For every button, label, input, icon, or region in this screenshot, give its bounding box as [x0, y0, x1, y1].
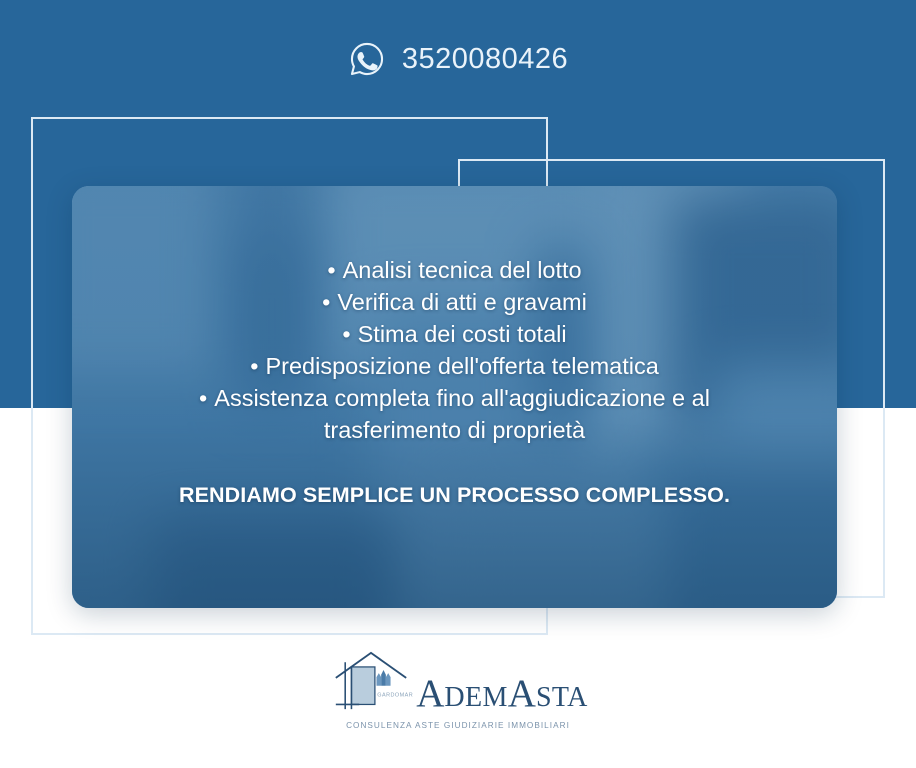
header-contact-bar: 3520080426 [0, 36, 916, 82]
list-item-label: Analisi tecnica del lotto [343, 257, 582, 283]
list-item-label: Predisposizione dell'offerta telematica [265, 353, 658, 379]
bullet-marker: • [199, 382, 207, 414]
list-item: trasferimento di proprietà [199, 414, 710, 446]
list-item-label: Verifica di atti e gravami [337, 289, 586, 315]
wordmark-a2: A [508, 672, 536, 715]
brand-logo: GARDOMAR ADEMASTA CONSULENZA ASTE GIUDIZ… [0, 648, 916, 730]
house-book-icon: GARDOMAR [328, 648, 414, 714]
content-card: •Analisi tecnica del lotto •Verifica di … [72, 186, 837, 608]
whatsapp-icon[interactable] [348, 40, 386, 78]
bullet-marker: • [342, 318, 350, 350]
list-item-label: trasferimento di proprietà [324, 417, 585, 443]
logo-lockup: GARDOMAR ADEMASTA [328, 648, 588, 714]
tagline: RENDIAMO SEMPLICE UN PROCESSO COMPLESSO. [179, 483, 730, 508]
list-item: •Analisi tecnica del lotto [199, 254, 710, 286]
bullet-marker: • [327, 254, 335, 286]
svg-text:GARDOMAR: GARDOMAR [377, 693, 413, 699]
card-content: •Analisi tecnica del lotto •Verifica di … [72, 186, 837, 608]
logo-wordmark: ADEMASTA [416, 675, 588, 712]
list-item: •Stima dei costi totali [199, 318, 710, 350]
list-item: •Verifica di atti e gravami [199, 286, 710, 318]
phone-number[interactable]: 3520080426 [402, 45, 568, 74]
wordmark-sta: STA [536, 682, 588, 713]
list-item-label: Assistenza completa fino all'aggiudicazi… [214, 385, 710, 411]
list-item: •Predisposizione dell'offerta telematica [199, 350, 710, 382]
bullet-marker: • [322, 286, 330, 318]
wordmark-dem: DEM [444, 682, 507, 713]
wordmark-a1: A [416, 672, 444, 715]
list-item: •Assistenza completa fino all'aggiudicaz… [199, 382, 710, 414]
bullet-marker: • [250, 350, 258, 382]
list-item-label: Stima dei costi totali [358, 321, 567, 347]
service-list: •Analisi tecnica del lotto •Verifica di … [199, 254, 710, 446]
poster-canvas: 3520080426 •Analisi tecnica del lotto •V… [0, 0, 916, 768]
logo-tagline: CONSULENZA ASTE GIUDIZIARIE IMMOBILIARI [346, 721, 570, 730]
